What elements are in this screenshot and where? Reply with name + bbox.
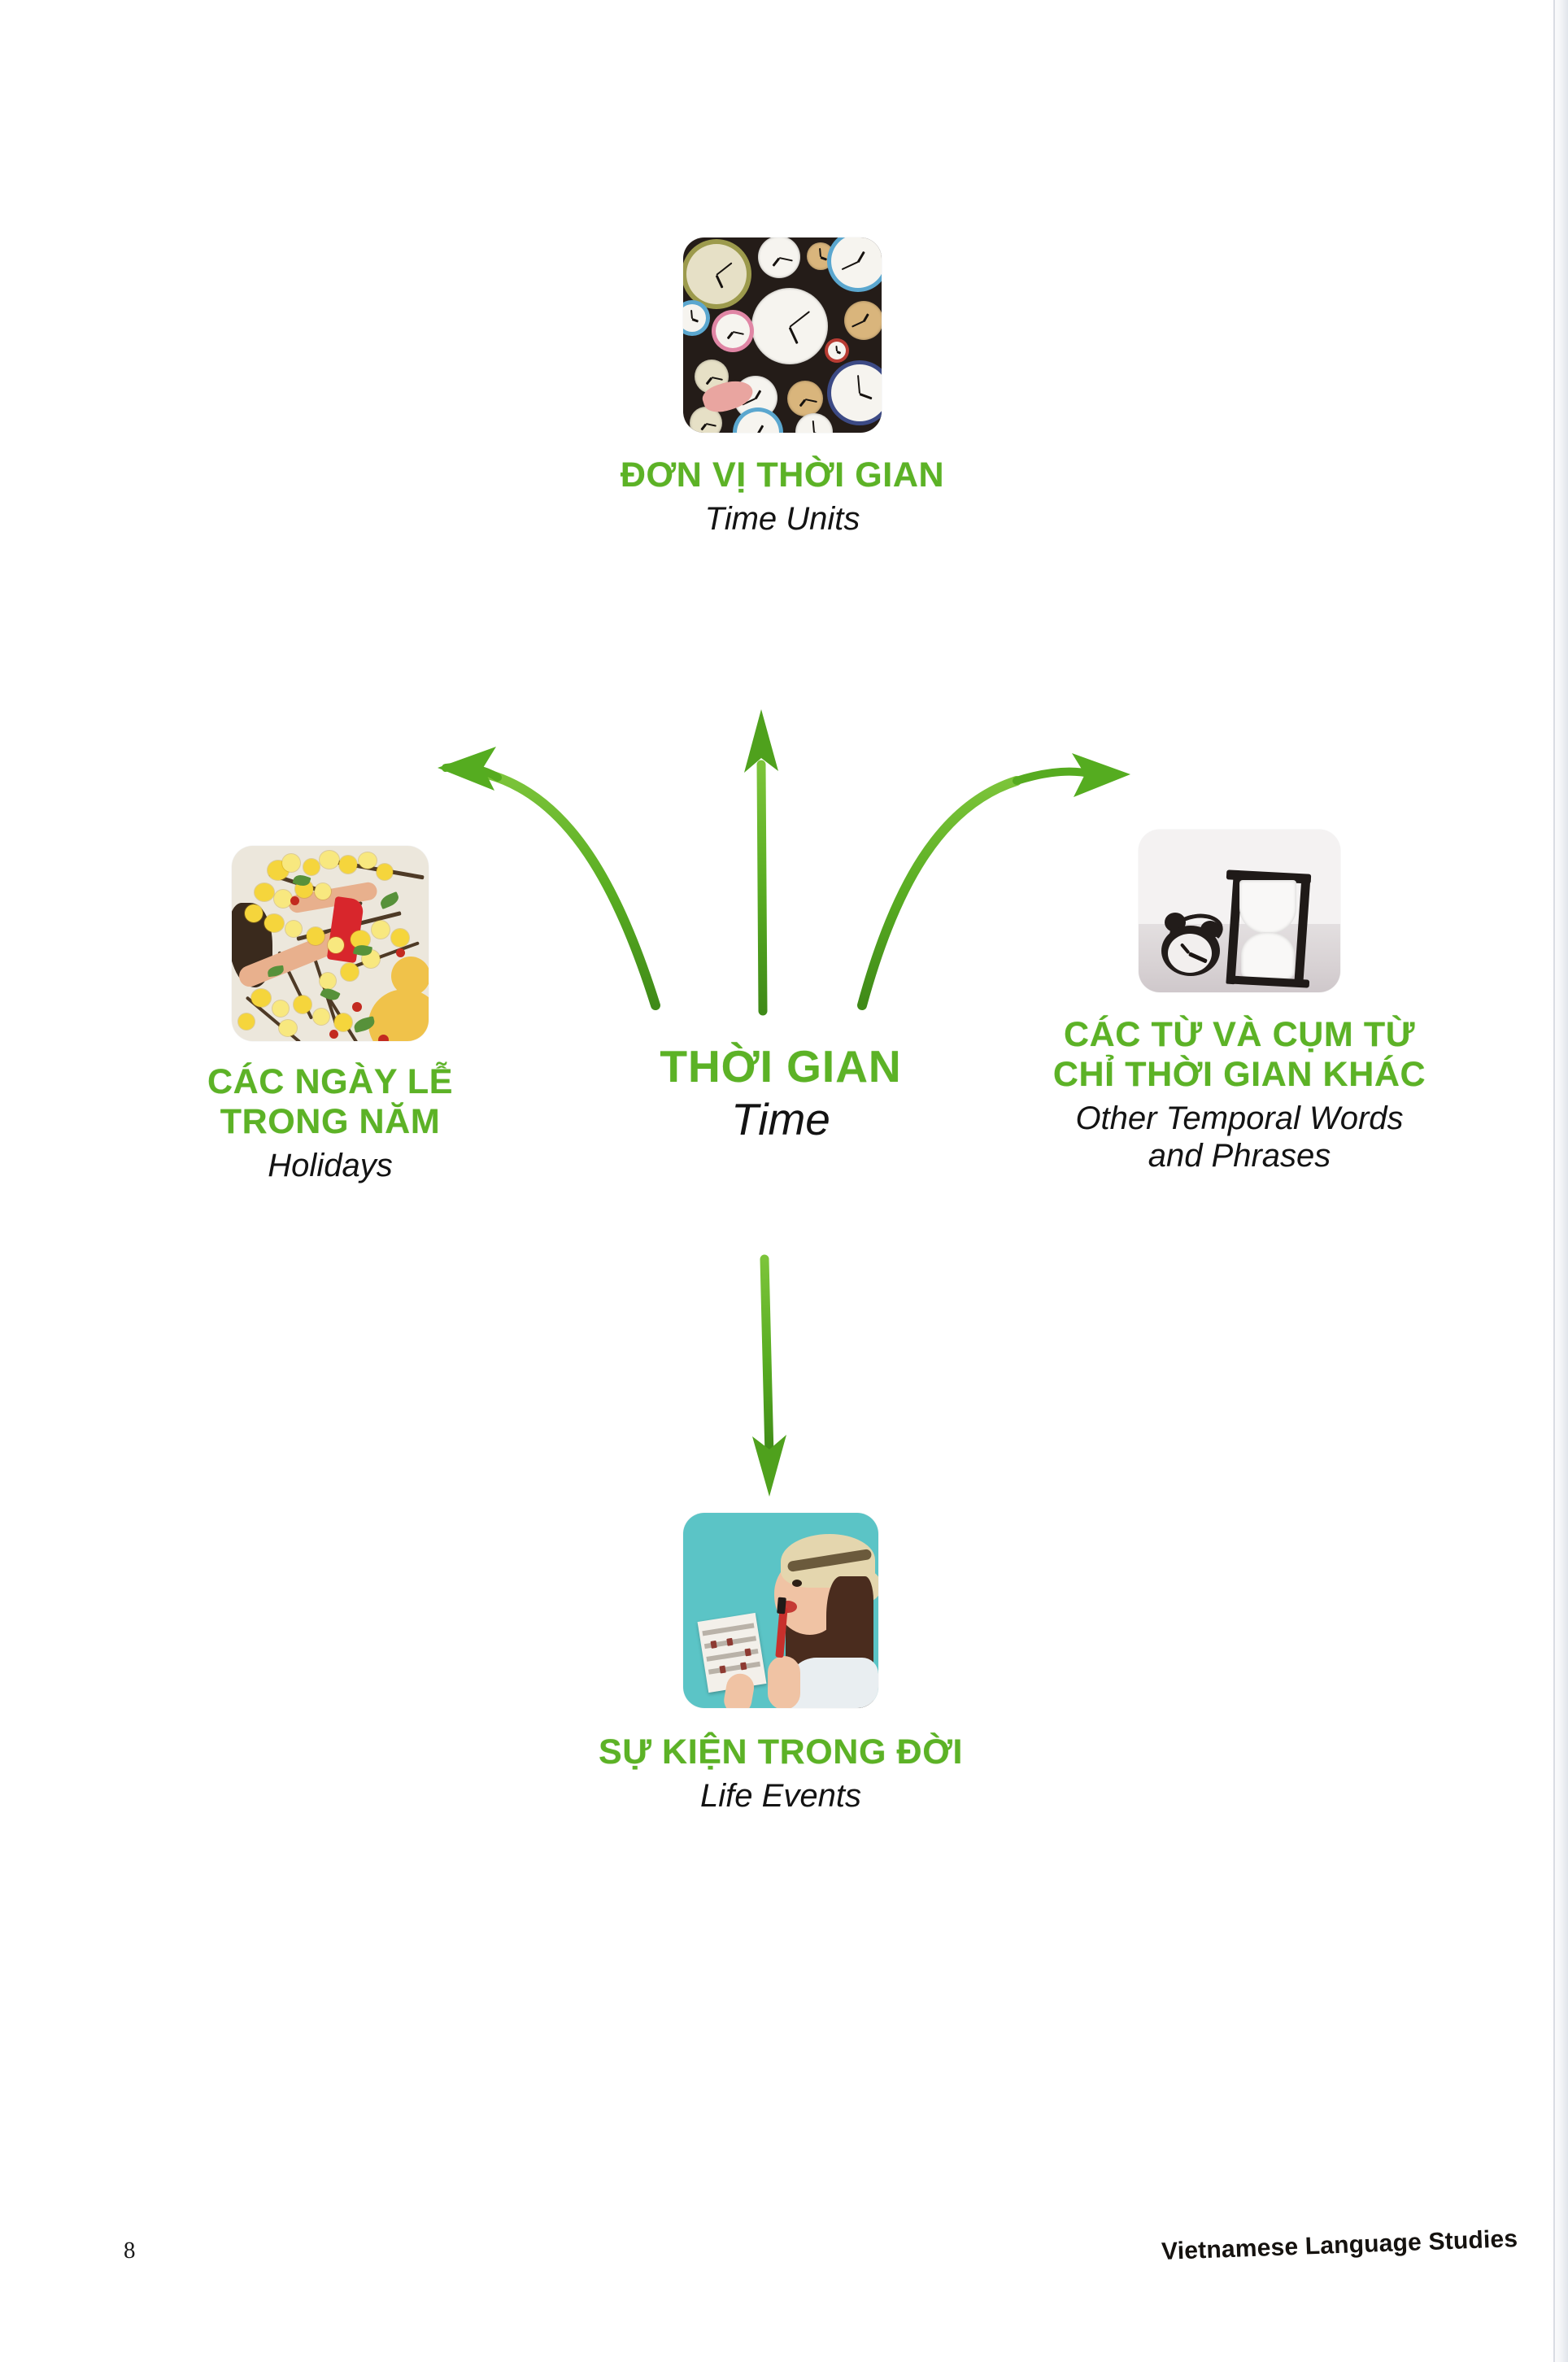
diagram-center: THỜI GIAN Time bbox=[512, 1041, 1049, 1145]
branch-title-en: Life Events bbox=[455, 1777, 1106, 1815]
hourglass-illustration bbox=[1139, 830, 1340, 992]
yellow-apricot-blossom-photo bbox=[232, 846, 429, 1041]
wall-of-clocks-photo bbox=[683, 238, 882, 433]
woman-with-calendar-illustration bbox=[683, 1513, 878, 1708]
imprint-footer: Vietnamese Language Studies bbox=[1161, 2225, 1518, 2266]
branch-title-vi: ĐƠN VỊ THỜI GIAN bbox=[483, 455, 1082, 495]
branch-title-en: Time Units bbox=[483, 500, 1082, 538]
woman-with-calendar-photo bbox=[683, 1513, 878, 1708]
branch-title-en-line2: and Phrases bbox=[968, 1137, 1511, 1174]
center-title-vi: THỜI GIAN bbox=[512, 1041, 1049, 1092]
branch-title-en-line1: Other Temporal Words bbox=[968, 1100, 1511, 1137]
branch-title-en: Holidays bbox=[57, 1147, 603, 1184]
branch-time-units: ĐƠN VỊ THỜI GIAN Time Units bbox=[483, 238, 1082, 538]
page-number: 8 bbox=[124, 2238, 136, 2264]
branch-title-vi-line2: CHỈ THỜI GIAN KHÁC bbox=[968, 1055, 1511, 1095]
arrow-down-straight bbox=[752, 1259, 786, 1497]
branch-other-temporal-words: CÁC TỪ VÀ CỤM TỪ CHỈ THỜI GIAN KHÁC Othe… bbox=[968, 830, 1511, 1175]
clocks-collage-illustration bbox=[683, 238, 882, 433]
branch-life-events: SỰ KIỆN TRONG ĐỜI Life Events bbox=[455, 1513, 1106, 1815]
arrow-up-straight bbox=[744, 709, 778, 1011]
apricot-blossom-illustration bbox=[232, 846, 429, 1041]
page-scan-edge-line bbox=[1553, 0, 1555, 2362]
branch-title-vi-line1: CÁC TỪ VÀ CỤM TỪ bbox=[968, 1015, 1511, 1055]
hourglass-and-alarm-clock-photo bbox=[1139, 830, 1340, 992]
branch-title-vi: SỰ KIỆN TRONG ĐỜI bbox=[455, 1732, 1106, 1772]
center-title-en: Time bbox=[512, 1094, 1049, 1146]
book-page: ĐƠN VỊ THỜI GIAN Time Units bbox=[0, 0, 1568, 2362]
